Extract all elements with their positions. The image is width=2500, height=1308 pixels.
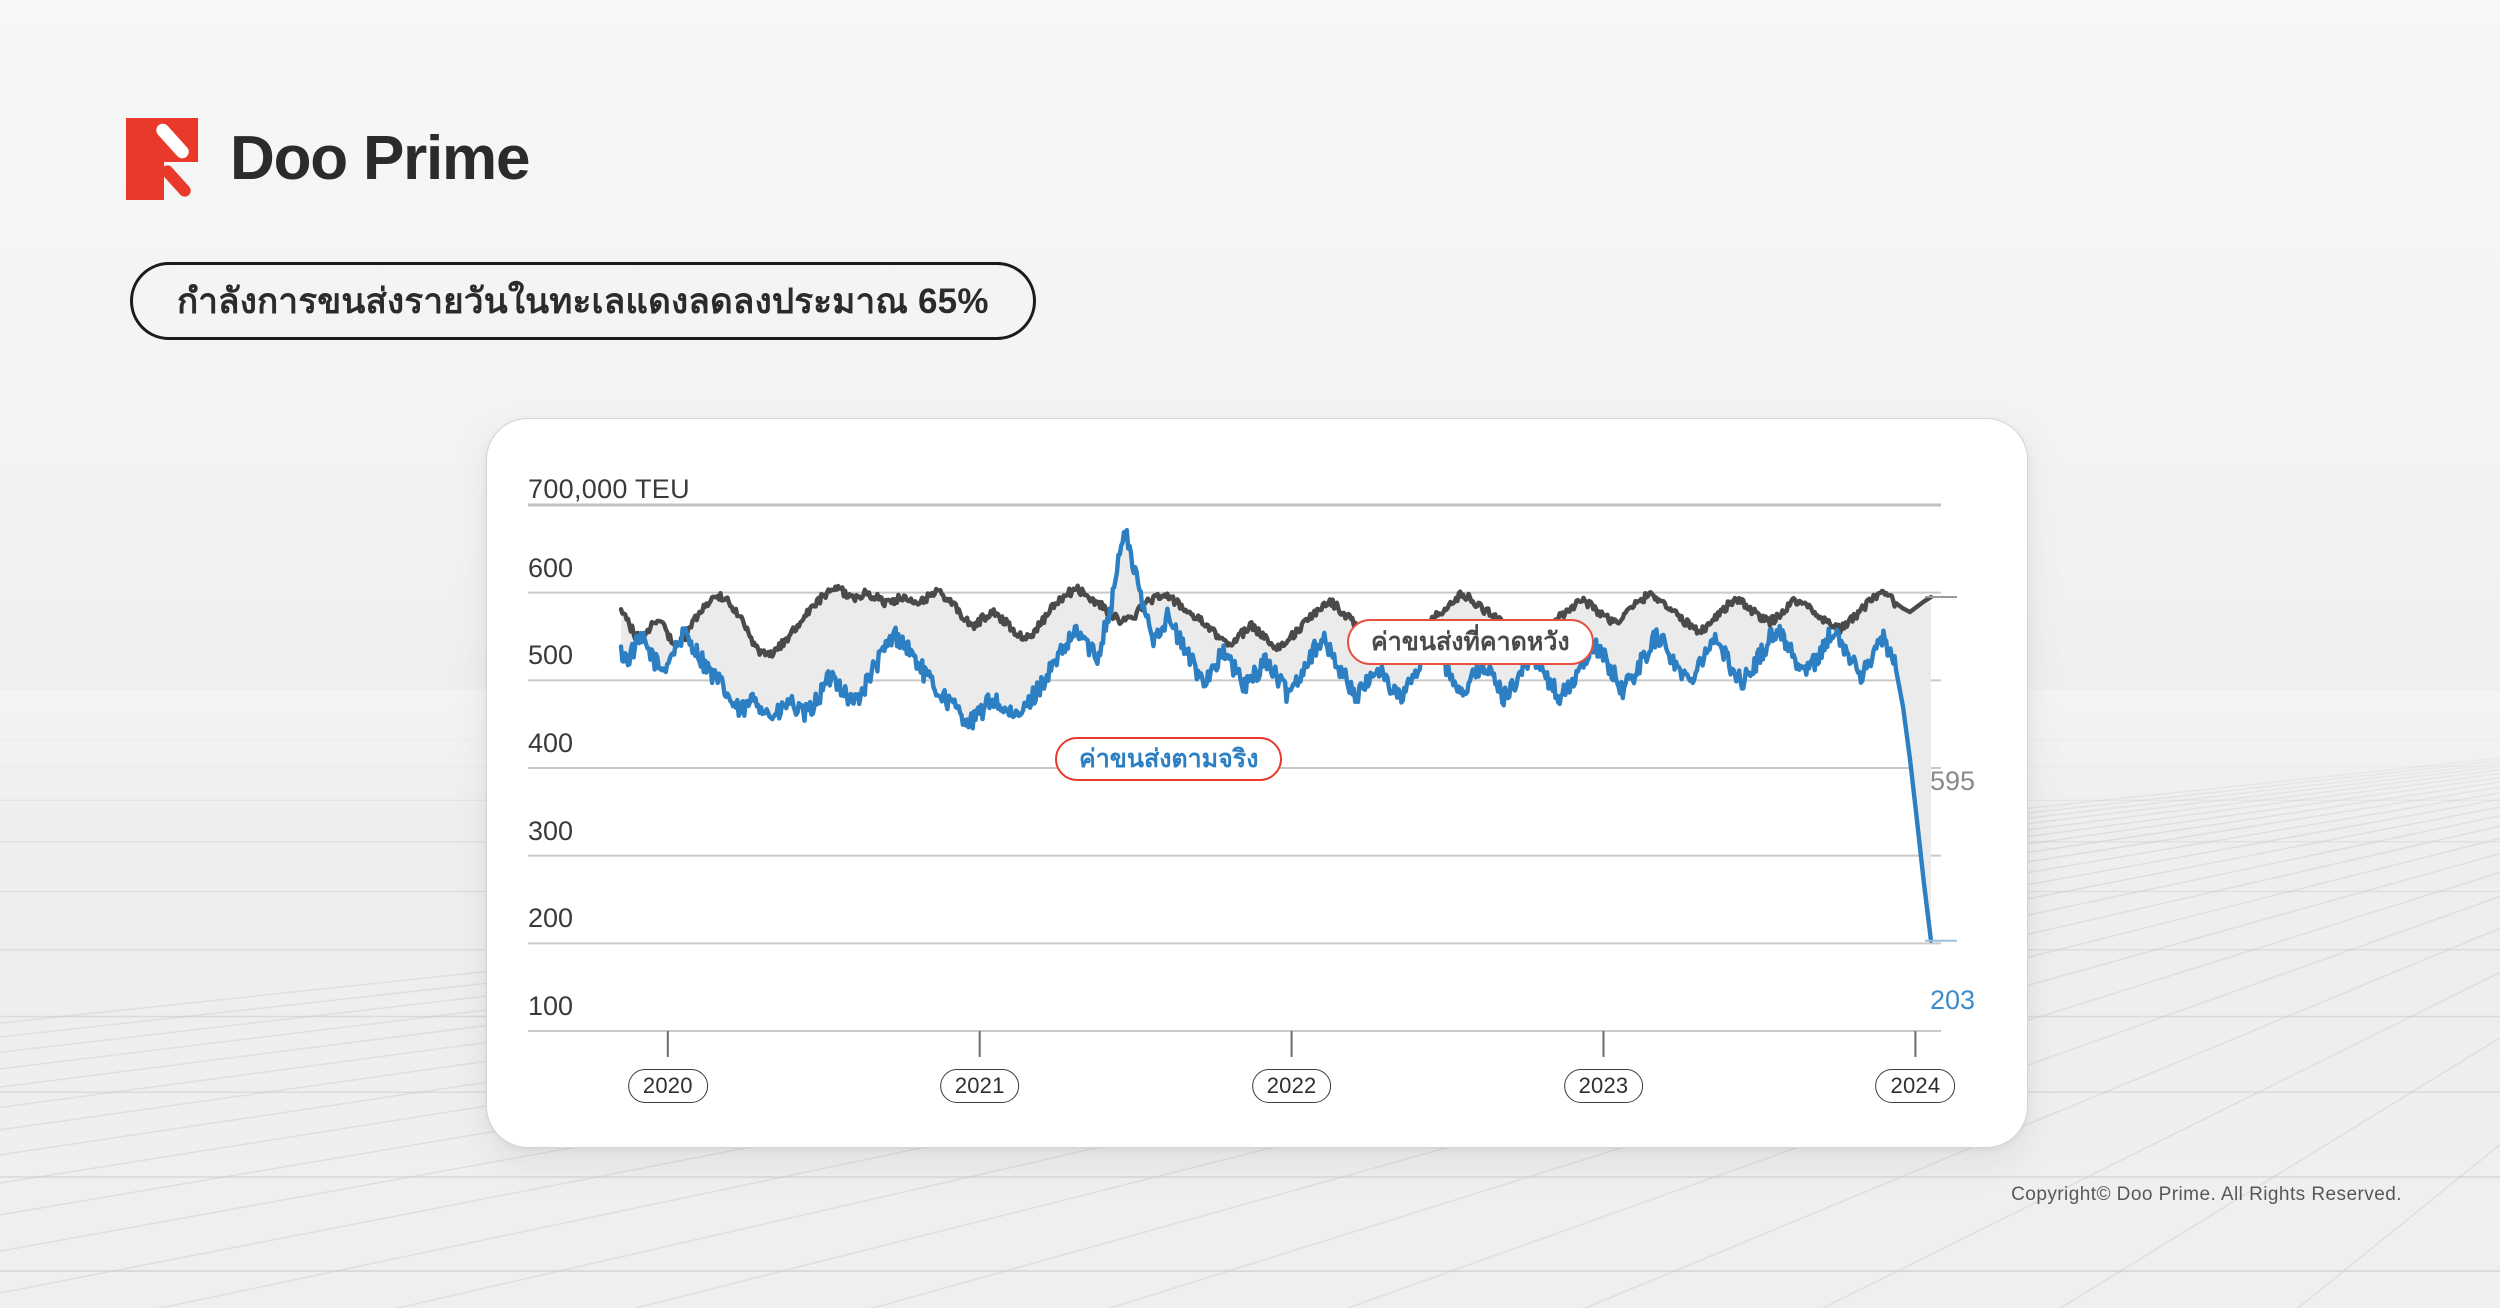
end-value-expected: 595	[1930, 766, 1975, 797]
x-axis-year-pill-2024: 2024	[1876, 1069, 1956, 1103]
doo-prime-logo-icon	[126, 118, 204, 200]
x-axis-year-pill-2022: 2022	[1252, 1069, 1332, 1103]
y-tick-label-400: 400	[528, 728, 573, 759]
brand-header: Doo Prime	[126, 118, 529, 200]
headline-pill: กำลังการขนส่งรายวันในทะเลแดงลดลงประมาณ 6…	[130, 262, 1036, 340]
x-axis-year-pill-2020: 2020	[628, 1069, 708, 1103]
series-band-fill	[621, 533, 1931, 941]
y-tick-label-500: 500	[528, 640, 573, 671]
legend-label-expected: ค่าขนส่งที่คาดหวัง	[1371, 622, 1570, 662]
x-axis-year-label: 2023	[1579, 1073, 1629, 1099]
x-axis-year-label: 2024	[1891, 1073, 1941, 1099]
y-tick-label-600: 600	[528, 553, 573, 584]
end-value-actual: 203	[1930, 985, 1975, 1016]
legend-callout-expected[interactable]: ค่าขนส่งที่คาดหวัง	[1347, 619, 1594, 665]
y-tick-label-200: 200	[528, 903, 573, 934]
legend-label-actual: ค่าขนส่งตามจริง	[1079, 739, 1258, 779]
x-axis-year-pill-2021: 2021	[940, 1069, 1020, 1103]
brand-wordmark: Doo Prime	[230, 128, 529, 190]
y-tick-label-300: 300	[528, 816, 573, 847]
page-title: กำลังการขนส่งรายวันในทะเลแดงลดลงประมาณ 6…	[177, 274, 989, 329]
x-axis-year-label: 2020	[643, 1073, 693, 1099]
copyright-text: Copyright© Doo Prime. All Rights Reserve…	[2011, 1184, 2402, 1206]
x-axis-year-label: 2022	[1267, 1073, 1317, 1099]
x-axis-year-label: 2021	[955, 1073, 1005, 1099]
x-axis-year-pill-2023: 2023	[1564, 1069, 1644, 1103]
chart-card: 700,000 TEU 600500400300200100 202020212…	[486, 418, 2028, 1148]
y-tick-label-100: 100	[528, 991, 573, 1022]
legend-callout-actual[interactable]: ค่าขนส่งตามจริง	[1055, 737, 1282, 781]
chart-plot	[487, 419, 2027, 1147]
